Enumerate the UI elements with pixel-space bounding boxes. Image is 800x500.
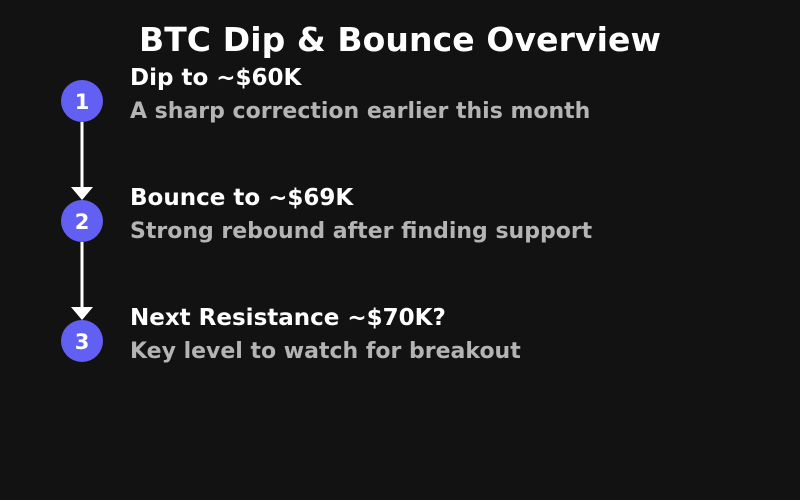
flowchart-canvas: BTC Dip & Bounce Overview 1 Dip to ~$60K… bbox=[0, 0, 800, 500]
step-description-1: A sharp correction earlier this month bbox=[130, 96, 780, 127]
step-text-block-3: Next Resistance ~$70K? Key level to watc… bbox=[130, 303, 780, 367]
step-description-3: Key level to watch for breakout bbox=[130, 336, 780, 367]
step-text-block-2: Bounce to ~$69K Strong rebound after fin… bbox=[130, 183, 780, 247]
step-description-2: Strong rebound after finding support bbox=[130, 216, 780, 247]
flow-step-1[interactable]: 1 Dip to ~$60K A sharp correction earlie… bbox=[0, 63, 800, 139]
step-number-label: 2 bbox=[75, 212, 90, 233]
step-marker-3[interactable]: 3 bbox=[61, 320, 103, 362]
step-number-label: 3 bbox=[75, 332, 90, 353]
step-label-3: Next Resistance ~$70K? bbox=[130, 303, 780, 334]
step-marker-2[interactable]: 2 bbox=[61, 200, 103, 242]
step-text-block-1: Dip to ~$60K A sharp correction earlier … bbox=[130, 63, 780, 127]
step-number-label: 1 bbox=[75, 92, 90, 113]
flow-step-2[interactable]: 2 Bounce to ~$69K Strong rebound after f… bbox=[0, 183, 800, 259]
page-title: BTC Dip & Bounce Overview bbox=[0, 20, 800, 60]
step-label-1: Dip to ~$60K bbox=[130, 63, 780, 94]
step-label-2: Bounce to ~$69K bbox=[130, 183, 780, 214]
step-marker-1[interactable]: 1 bbox=[61, 80, 103, 122]
flow-step-3[interactable]: 3 Next Resistance ~$70K? Key level to wa… bbox=[0, 303, 800, 379]
